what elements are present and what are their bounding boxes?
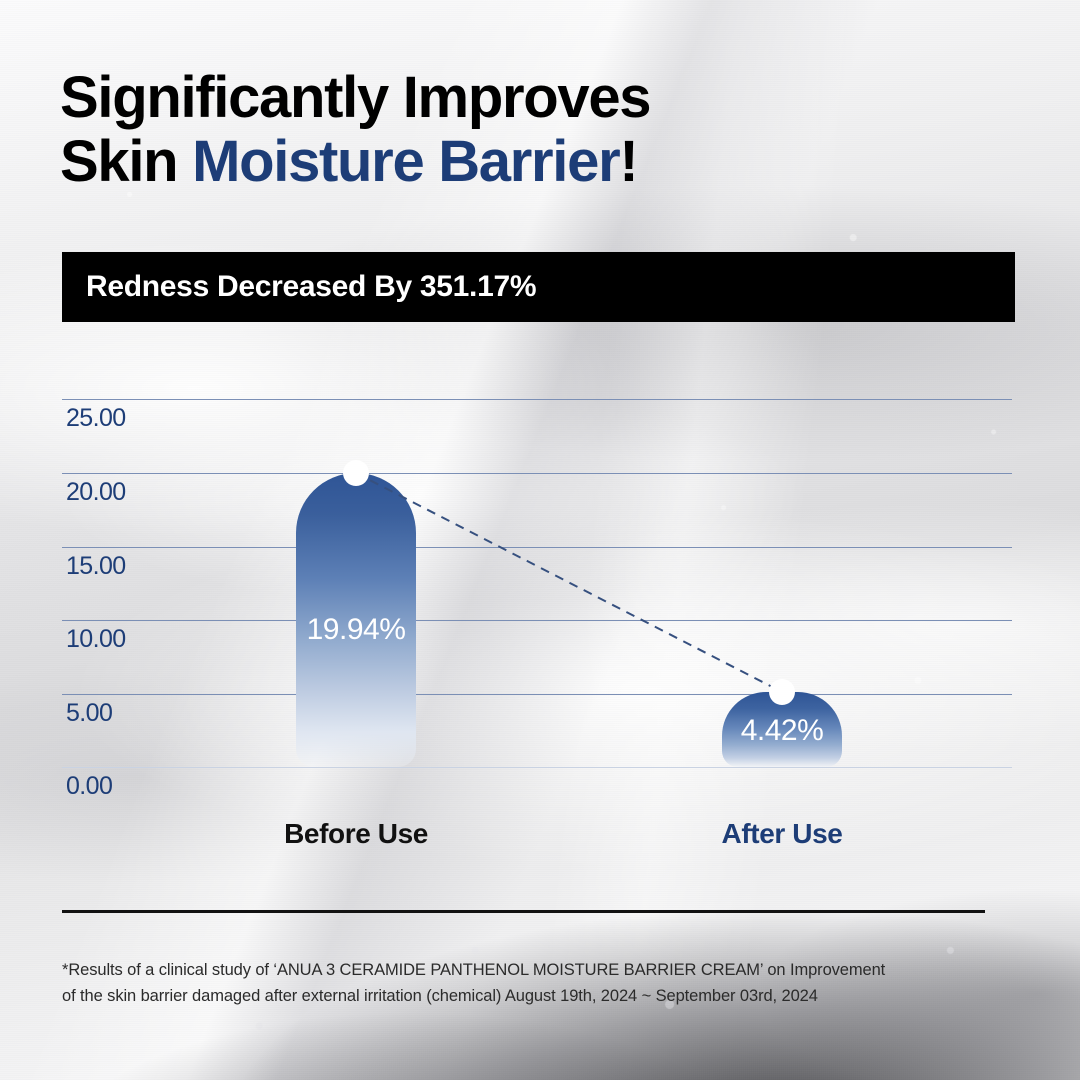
marker-dot-after-use xyxy=(769,679,795,705)
x-axis-label-before-use: Before Use xyxy=(256,818,456,850)
bar-chart: 25.00 20.00 15.00 10.00 5.00 0.00 19.94%… xyxy=(0,0,1080,1080)
dashed-trend-line xyxy=(356,473,782,692)
marker-dot-before-use xyxy=(343,460,369,486)
x-axis-label-after-use: After Use xyxy=(682,818,882,850)
footnote-line-2: of the skin barrier damaged after extern… xyxy=(62,984,1027,1010)
footnote-line-1: *Results of a clinical study of ‘ANUA 3 … xyxy=(62,958,1027,984)
footer-divider xyxy=(62,910,985,913)
infographic-page: Significantly Improves Skin Moisture Bar… xyxy=(0,0,1080,1080)
footnote: *Results of a clinical study of ‘ANUA 3 … xyxy=(62,958,1027,1009)
trend-connector-line xyxy=(0,0,1080,1080)
